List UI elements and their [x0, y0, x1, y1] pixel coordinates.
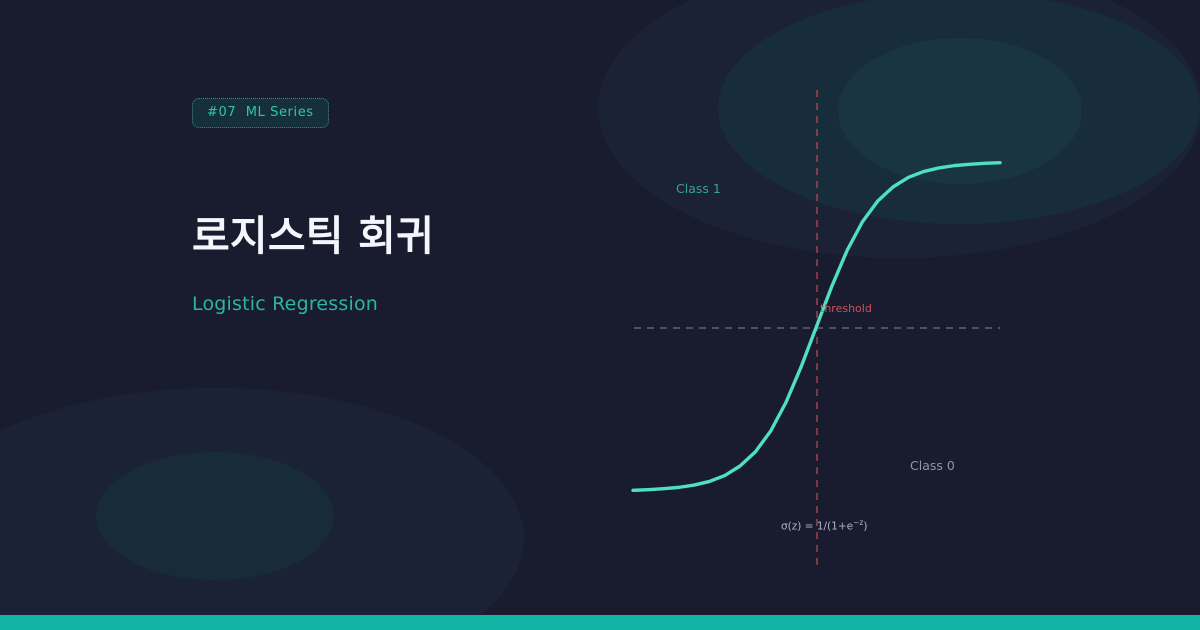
title-block: #07 ML Series 로지스틱 회귀 Logistic Regressio… — [192, 98, 612, 316]
decor-ellipse-bottom-left-inner — [96, 452, 334, 580]
page-title: 로지스틱 회귀 — [192, 214, 612, 259]
series-badge: #07 ML Series — [192, 98, 329, 128]
bottom-accent-bar — [0, 615, 1200, 630]
sigmoid-chart-svg — [600, 0, 1200, 615]
decor-ellipse-bottom-left-outer — [0, 388, 524, 630]
page-subtitle: Logistic Regression — [192, 293, 612, 316]
sigmoid-chart: Class 1 Class 0 threshold σ(z) = 1/(1+e−… — [600, 0, 1200, 615]
slide-canvas: #07 ML Series 로지스틱 회귀 Logistic Regressio… — [0, 0, 1200, 630]
